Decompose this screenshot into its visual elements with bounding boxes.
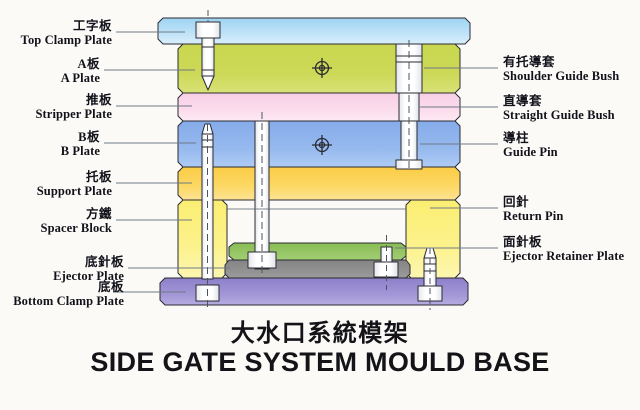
label-ejector-plate: 底針板 Ejector Plate (53, 255, 124, 283)
label-a-plate-cn: A板 (61, 57, 100, 71)
page-title-en: SIDE GATE SYSTEM MOULD BASE (0, 347, 640, 378)
label-bottom-clamp-plate-cn: 底板 (13, 280, 124, 294)
label-guide-pin-cn: 導柱 (503, 131, 558, 145)
label-straight-guide-bush-cn: 直導套 (503, 94, 615, 108)
label-shoulder-guide-bush: 有托導套 Shoulder Guide Bush (503, 55, 619, 83)
label-bottom-clamp-plate-en: Bottom Clamp Plate (13, 294, 124, 308)
label-ejector-plate-cn: 底針板 (53, 255, 124, 269)
label-stripper-plate-en: Stripper Plate (35, 107, 112, 121)
label-top-clamp-plate-en: Top Clamp Plate (21, 33, 112, 47)
label-stripper-plate: 推板 Stripper Plate (35, 93, 112, 121)
label-ejector-retainer-plate: 面針板 Ejector Retainer Plate (503, 235, 624, 263)
label-top-clamp-plate-cn: 工字板 (21, 19, 112, 33)
label-return-pin-cn: 回針 (503, 195, 563, 209)
label-shoulder-guide-bush-en: Shoulder Guide Bush (503, 69, 619, 83)
label-ejector-retainer-plate-en: Ejector Retainer Plate (503, 249, 624, 263)
label-b-plate-en: B Plate (61, 144, 100, 158)
label-spacer-block: 方鐵 Spacer Block (41, 207, 112, 235)
label-straight-guide-bush-en: Straight Guide Bush (503, 108, 615, 122)
label-support-plate-en: Support Plate (37, 184, 112, 198)
label-return-pin: 回針 Return Pin (503, 195, 563, 223)
label-return-pin-en: Return Pin (503, 209, 563, 223)
label-support-plate-cn: 托板 (37, 170, 112, 184)
label-stripper-plate-cn: 推板 (35, 93, 112, 107)
label-support-plate: 托板 Support Plate (37, 170, 112, 198)
label-spacer-block-cn: 方鐵 (41, 207, 112, 221)
diagram-canvas: 工字板 Top Clamp Plate A板 A Plate 推板 Stripp… (0, 0, 640, 410)
label-top-clamp-plate: 工字板 Top Clamp Plate (21, 19, 112, 47)
label-straight-guide-bush: 直導套 Straight Guide Bush (503, 94, 615, 122)
label-bottom-clamp-plate: 底板 Bottom Clamp Plate (13, 280, 124, 308)
label-shoulder-guide-bush-cn: 有托導套 (503, 55, 619, 69)
label-a-plate-en: A Plate (61, 71, 100, 85)
label-b-plate: B板 B Plate (61, 130, 100, 158)
label-a-plate: A板 A Plate (61, 57, 100, 85)
socket-screw-head-top (196, 22, 220, 38)
label-b-plate-cn: B板 (61, 130, 100, 144)
label-ejector-retainer-plate-cn: 面針板 (503, 235, 624, 249)
page-title-cn: 大水口系統模架 (0, 313, 640, 348)
support-plate-body (178, 167, 460, 200)
label-guide-pin: 導柱 Guide Pin (503, 131, 558, 159)
label-spacer-block-en: Spacer Block (41, 221, 112, 235)
label-guide-pin-en: Guide Pin (503, 145, 558, 159)
